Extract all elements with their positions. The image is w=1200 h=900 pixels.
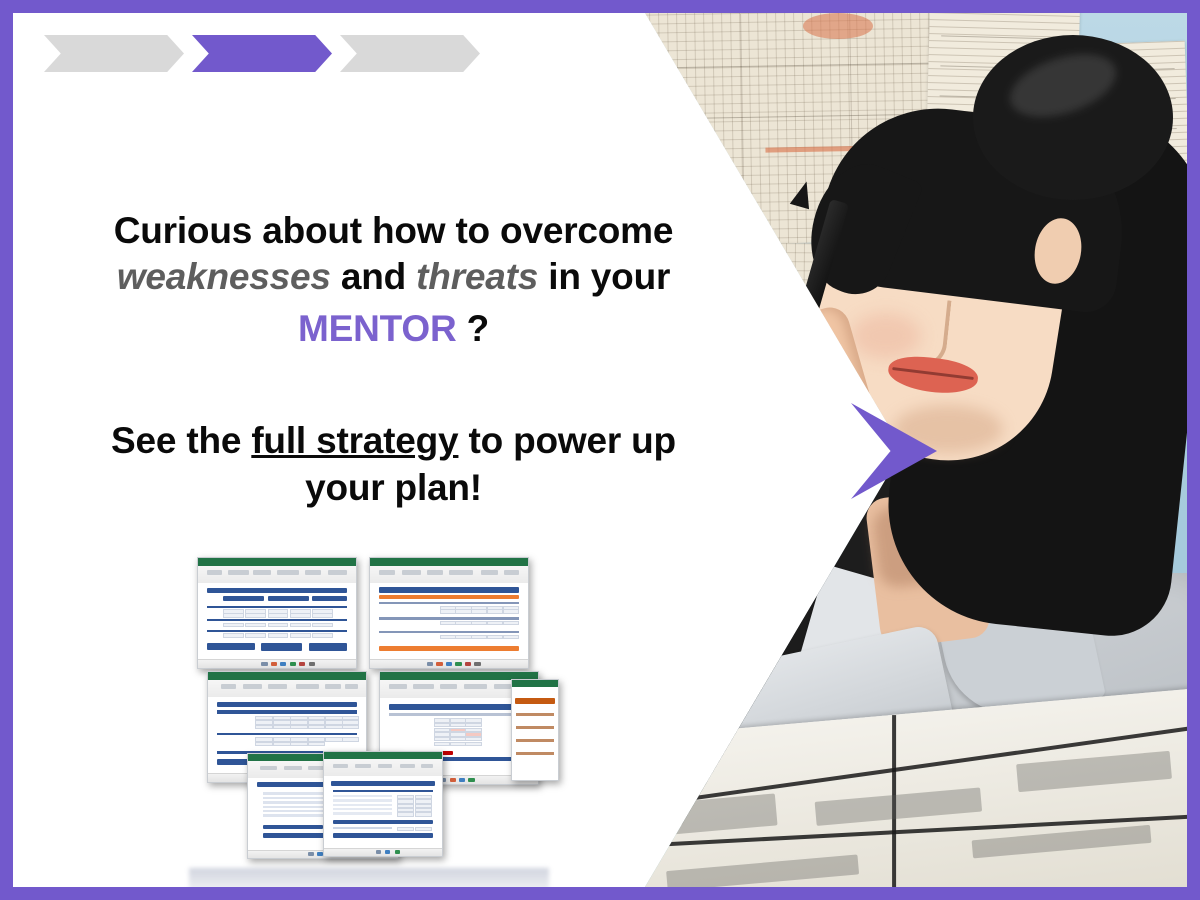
excel-titlebar	[198, 558, 356, 566]
newspaper-stack	[591, 685, 1187, 887]
headline-line-2: weaknesses and threats in your	[61, 254, 726, 300]
pen-tip	[790, 179, 816, 210]
headline-line-3: MENTOR ?	[61, 306, 726, 352]
headline-emphasis-threats: threats	[416, 256, 538, 297]
excel-titlebar	[208, 672, 366, 680]
headline-line-1: Curious about how to overcome	[61, 208, 726, 254]
headline-keyword-mentor: MENTOR	[298, 308, 456, 349]
step-chevron-3[interactable]	[340, 35, 480, 72]
cta-link-full-strategy[interactable]: full strategy	[251, 420, 458, 461]
excel-ribbon	[208, 680, 366, 699]
sheet-grid	[512, 692, 558, 773]
cta-suffix: to power up	[458, 420, 676, 461]
excel-titlebar	[512, 680, 558, 687]
cta-text: See the full strategy to power up your p…	[61, 418, 726, 511]
slide-root: Curious about how to overcome weaknesses…	[0, 0, 1200, 900]
excel-statusbar	[198, 659, 356, 668]
finger-2	[797, 342, 836, 427]
finger-1	[773, 334, 815, 423]
sheet-grid	[198, 583, 356, 660]
excel-ribbon	[198, 566, 356, 585]
thumbnail-sheet-bottom-right[interactable]	[323, 751, 443, 857]
headline-line-2-suffix: in your	[538, 256, 670, 297]
cta-prefix: See the	[111, 420, 251, 461]
sheet-grid	[370, 583, 528, 660]
excel-ribbon	[324, 759, 442, 777]
excel-statusbar	[370, 659, 528, 668]
excel-titlebar	[370, 558, 528, 566]
excel-titlebar	[324, 752, 442, 759]
sheet-grid	[324, 776, 442, 849]
slide-canvas: Curious about how to overcome weaknesses…	[13, 13, 1187, 887]
headline-question-mark: ?	[456, 308, 488, 349]
thumbnail-sheet-top-right[interactable]	[369, 557, 529, 669]
headline-conjunction: and	[331, 256, 416, 297]
thumbnail-sheet-top-left[interactable]	[197, 557, 357, 669]
step-chevron-1[interactable]	[44, 35, 184, 72]
headline: Curious about how to overcome weaknesses…	[61, 208, 726, 352]
template-thumbnail-stack[interactable]	[189, 553, 549, 873]
cta-line-2: your plan!	[305, 467, 482, 508]
step-chevron-2[interactable]	[192, 35, 332, 72]
excel-ribbon	[370, 566, 528, 585]
headline-emphasis-weaknesses: weaknesses	[117, 256, 331, 297]
thumbnail-reflection	[189, 868, 549, 887]
progress-steps	[44, 35, 480, 72]
excel-statusbar	[324, 848, 442, 856]
finger-3	[821, 352, 855, 429]
thumbnail-sheet-mid-right[interactable]	[511, 679, 559, 781]
